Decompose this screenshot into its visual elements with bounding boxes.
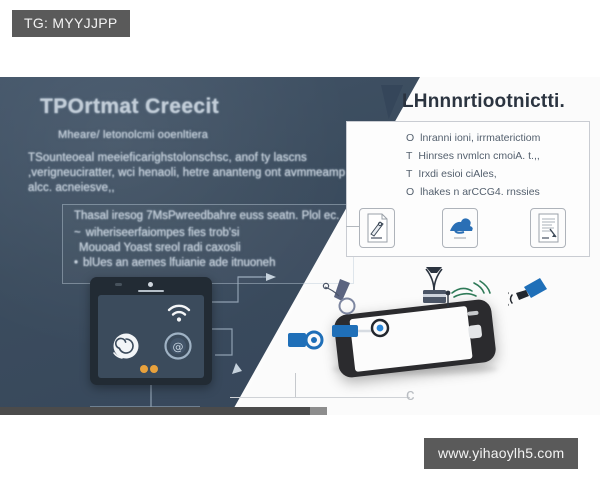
document-pen-icon: [359, 208, 395, 248]
tablet-device: @: [90, 277, 212, 385]
svg-text:@: @: [173, 341, 184, 354]
phone-leader-line: [295, 373, 296, 397]
right-panel-list: O lnranni ioni, irrmaterictiom T Hinrses…: [406, 129, 582, 201]
caption-glyph: c: [406, 385, 415, 405]
bullet-marker: ~: [74, 226, 81, 241]
list-item: Mouoad Yoast sreol radi caxosli: [74, 241, 344, 256]
list-item: O lhakes n arCCG4. rnssies: [406, 183, 582, 201]
blue-shape-icon: [442, 208, 478, 248]
list-item: T Hinrses nvmlcn cmoiA. t.,,: [406, 147, 582, 165]
icon-card-connector: [346, 226, 359, 227]
list-item-label: Hinrses nvmlcn cmoiA. t.,,: [418, 147, 539, 165]
list-item-label: Irxdi esioi ciAles,: [418, 165, 496, 183]
tablet-sensor: [115, 283, 122, 286]
phone-baseline: [230, 397, 410, 398]
slide-bottom-nub: [310, 407, 327, 415]
list-item: • blUes an aemes lfuianie ade itnuoneh: [74, 256, 344, 271]
camera-icon: [148, 282, 153, 287]
tag-badge: TG: MYYJJPP: [12, 10, 130, 37]
list-item-label: wiheriseerfaiompes fies trob'si: [86, 226, 240, 241]
speaker-icon: [138, 290, 164, 292]
list-item-label: blUes an aemes lfuianie ade itnuoneh: [83, 256, 275, 271]
magnifier-icon: [322, 275, 368, 317]
at-sign-icon: @: [162, 331, 194, 361]
dot-indicator: [150, 365, 158, 373]
wifi-icon: [166, 303, 192, 323]
bullet-marker: T: [406, 165, 412, 183]
bullet-marker: T: [406, 147, 412, 165]
bullet-marker: O: [406, 183, 414, 201]
document-chart-icon: [530, 208, 566, 248]
watermark: www.yihaoylh5.com: [424, 438, 578, 469]
slide-canvas: TPOrtmat Creecit Mheare/ letonolcmi ooen…: [0, 77, 600, 415]
list-item: ~ wiheriseerfaiompes fies trob'si: [74, 226, 344, 241]
left-panel-title: TPOrtmat Creecit: [40, 95, 219, 119]
right-panel-title: LHnnnrtiootnictti.: [402, 91, 565, 113]
key-icon: [330, 315, 392, 345]
home-button: [468, 324, 482, 338]
list-item-label: lnranni ioni, irrmaterictiom: [420, 129, 540, 147]
left-box-list: ~ wiheriseerfaiompes fies trob'si Mouoad…: [74, 226, 344, 271]
list-item: T Irxdi esioi ciAles,: [406, 165, 582, 183]
antenna-signal-icon: [440, 277, 498, 315]
list-item-label: lhakes n arCCG4. rnssies: [420, 183, 540, 201]
spiral-icon: [108, 331, 142, 361]
bullet-marker: O: [406, 129, 414, 147]
dot-indicator: [140, 365, 148, 373]
left-panel-paragraph: TSounteoeal meeieficarighstolonschsc, an…: [28, 151, 348, 196]
blue-tag-icon: [508, 273, 552, 311]
slide-bottom-band: [0, 407, 310, 415]
tablet-screen: @: [98, 295, 204, 378]
list-item-label: Mouoad Yoast sreol radi caxosli: [79, 241, 241, 256]
left-panel-subtitle: Mheare/ letonolcmi ooenltiera: [58, 129, 208, 141]
left-box-heading: Thasal iresog 7MsPwreedbahre euss seatn.…: [74, 210, 354, 222]
bullet-marker: •: [74, 256, 78, 271]
list-item: O lnranni ioni, irrmaterictiom: [406, 129, 582, 147]
